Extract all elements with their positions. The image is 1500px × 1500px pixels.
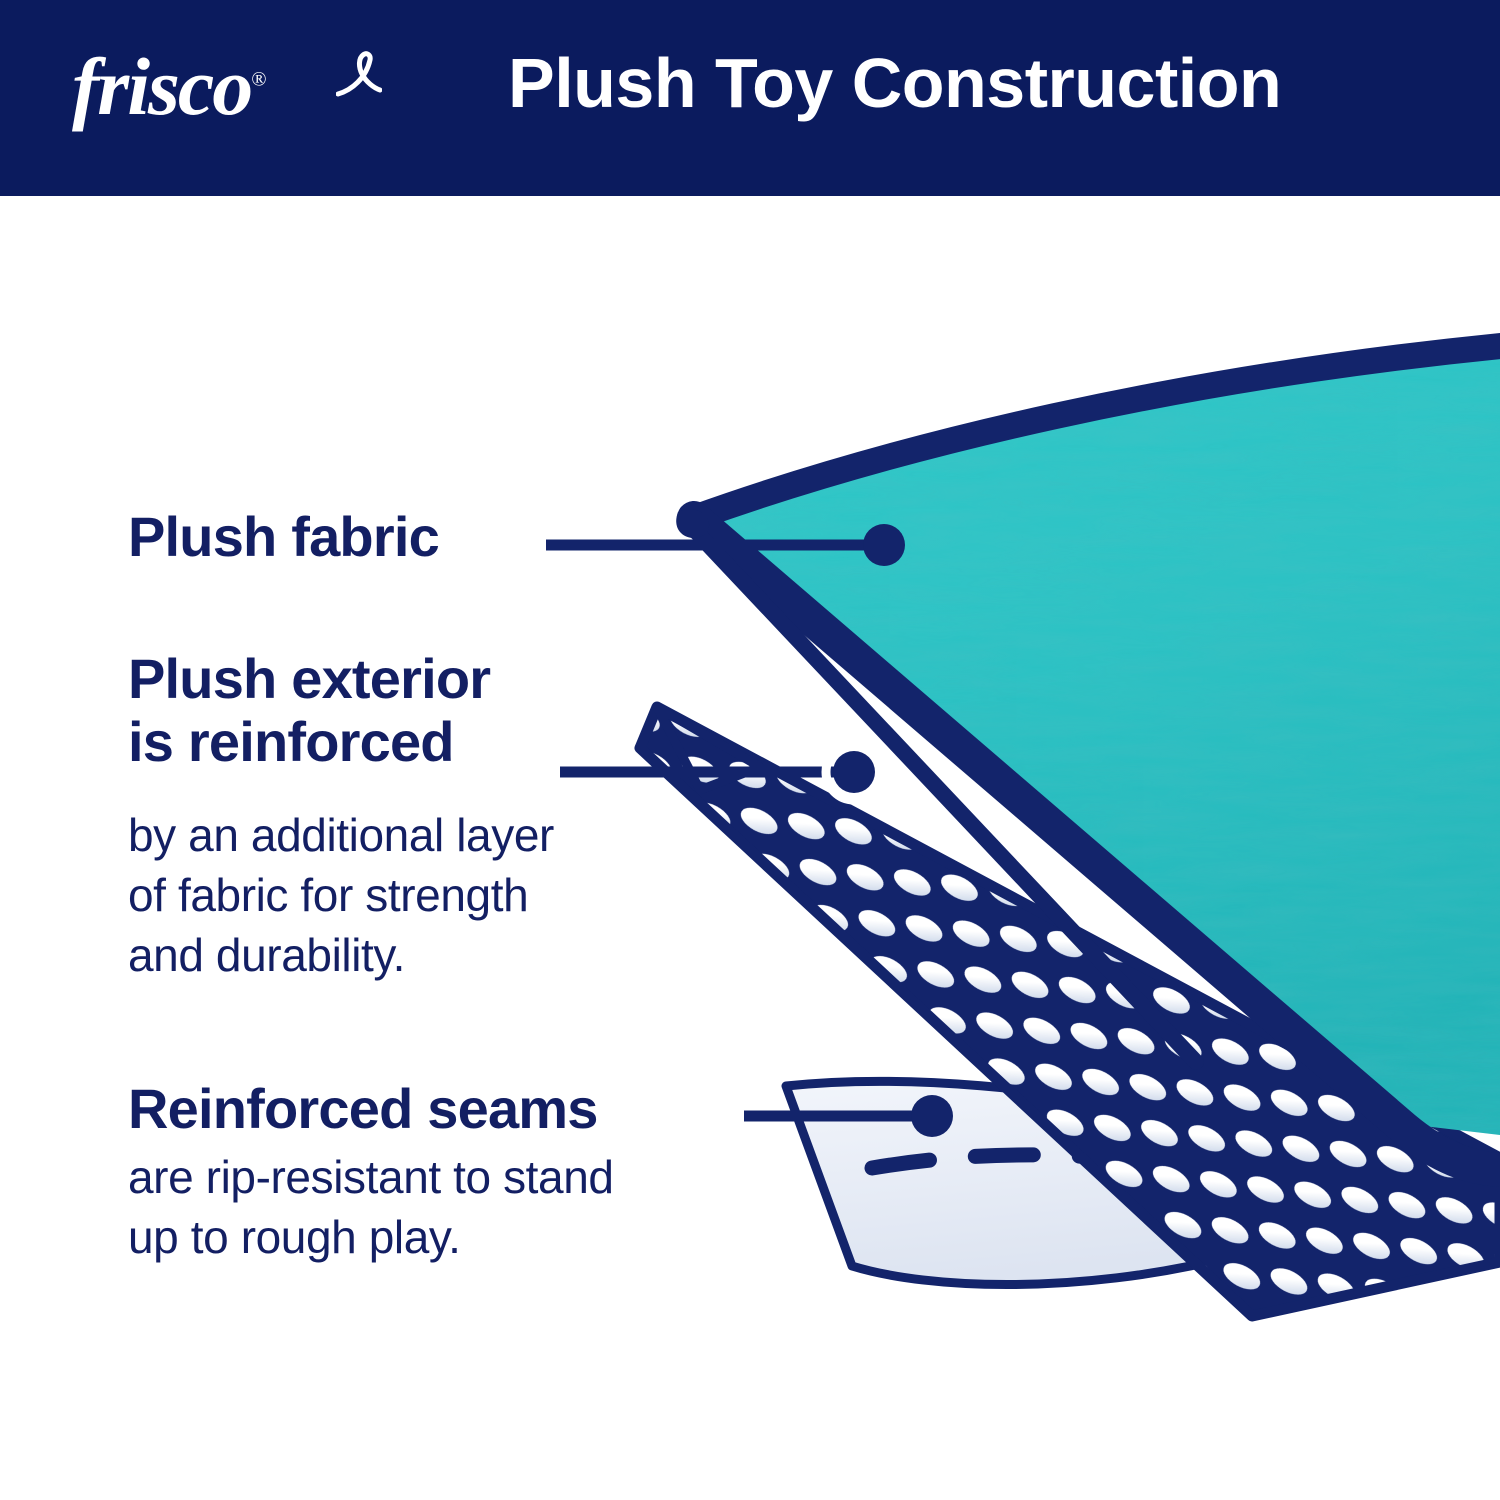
callout-body-reinforced-seams-line1: are rip-resistant to stand (128, 1148, 614, 1208)
callout-body-reinforced-seams-line2: up to rough play. (128, 1208, 614, 1268)
callout-body-reinforced-seams: are rip-resistant to stand up to rough p… (128, 1148, 614, 1268)
callout-heading-plush-exterior-line2: is reinforced (128, 711, 490, 774)
callout-body-plush-exterior-line2: of fabric for strength (128, 866, 554, 926)
callout-body-plush-exterior-line3: and durability. (128, 926, 554, 986)
callout-heading-plush-fabric: Plush fabric (128, 506, 439, 569)
callout-heading-reinforced-seams: Reinforced seams (128, 1078, 598, 1141)
callout-body-plush-exterior-line1: by an additional layer (128, 806, 554, 866)
callout-heading-plush-exterior: Plush exterior is reinforced (128, 648, 490, 773)
leader-dot-1 (863, 524, 905, 566)
leader-dot-3 (911, 1095, 953, 1137)
leader-dot-2 (833, 751, 875, 793)
callout-heading-plush-exterior-line1: Plush exterior (128, 648, 490, 711)
infographic-root: frisco® Plush Toy Construction (0, 0, 1500, 1500)
callout-body-plush-exterior: by an additional layer of fabric for str… (128, 806, 554, 985)
